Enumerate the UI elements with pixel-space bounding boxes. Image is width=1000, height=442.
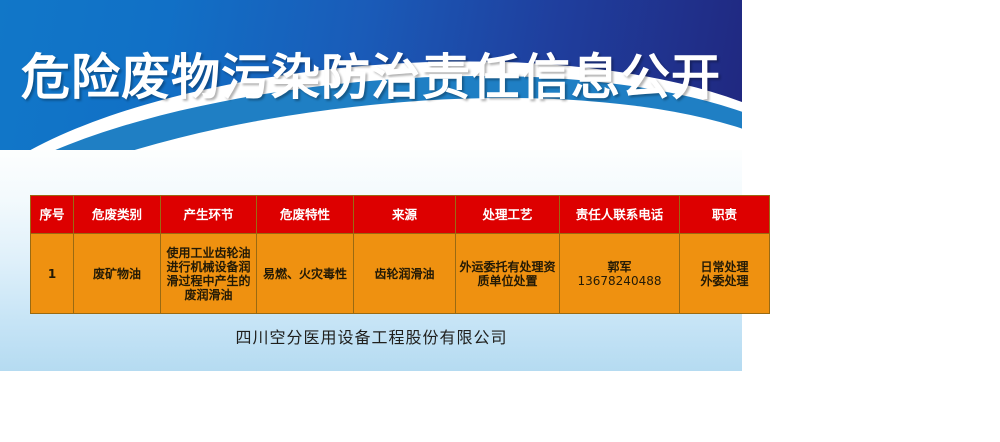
- cell-duty: 日常处理 外委处理: [680, 234, 770, 314]
- column-header-index: 序号: [31, 196, 74, 234]
- hazardous-waste-table: 序号 危废类别 产生环节 危废特性 来源 处理工艺 责任人联系电话 职责 1 废…: [30, 195, 770, 314]
- table-header: 序号 危废类别 产生环节 危废特性 来源 处理工艺 责任人联系电话 职责: [31, 196, 770, 234]
- table-body: 1 废矿物油 使用工业齿轮油进行机械设备润滑过程中产生的废润滑油 易燃、火灾毒性…: [31, 234, 770, 314]
- company-name: 四川空分医用设备工程股份有限公司: [30, 328, 713, 348]
- cell-category: 废矿物油: [74, 234, 161, 314]
- column-header-source: 来源: [354, 196, 456, 234]
- column-header-responsible-phone: 责任人联系电话: [560, 196, 680, 234]
- header-banner: 危险废物污染防治责任信息公开: [0, 0, 742, 168]
- responsible-person-phone: 13678240488: [563, 274, 676, 288]
- hazardous-waste-information-poster: 危险废物污染防治责任信息公开 序号 危废类别 产生环节 危废特性 来源 处理工艺…: [0, 0, 1000, 442]
- table-header-row: 序号 危废类别 产生环节 危废特性 来源 处理工艺 责任人联系电话 职责: [31, 196, 770, 234]
- column-header-treatment-process: 处理工艺: [456, 196, 560, 234]
- cell-index: 1: [31, 234, 74, 314]
- duty-line-1: 日常处理: [683, 260, 766, 274]
- hazardous-waste-table-container: 序号 危废类别 产生环节 危废特性 来源 处理工艺 责任人联系电话 职责 1 废…: [30, 195, 713, 314]
- duty-line-2: 外委处理: [683, 274, 766, 288]
- table-row: 1 废矿物油 使用工业齿轮油进行机械设备润滑过程中产生的废润滑油 易燃、火灾毒性…: [31, 234, 770, 314]
- cell-responsible-contact: 郭军 13678240488: [560, 234, 680, 314]
- cell-generation-stage: 使用工业齿轮油进行机械设备润滑过程中产生的废润滑油: [161, 234, 257, 314]
- column-header-duty: 职责: [680, 196, 770, 234]
- column-header-category: 危废类别: [74, 196, 161, 234]
- column-header-hazard-property: 危废特性: [257, 196, 354, 234]
- poster-title: 危险废物污染防治责任信息公开: [0, 48, 742, 108]
- responsible-person-name: 郭军: [563, 260, 676, 274]
- cell-source: 齿轮润滑油: [354, 234, 456, 314]
- column-header-generation-stage: 产生环节: [161, 196, 257, 234]
- cell-hazard-property: 易燃、火灾毒性: [257, 234, 354, 314]
- cell-treatment-process: 外运委托有处理资质单位处置: [456, 234, 560, 314]
